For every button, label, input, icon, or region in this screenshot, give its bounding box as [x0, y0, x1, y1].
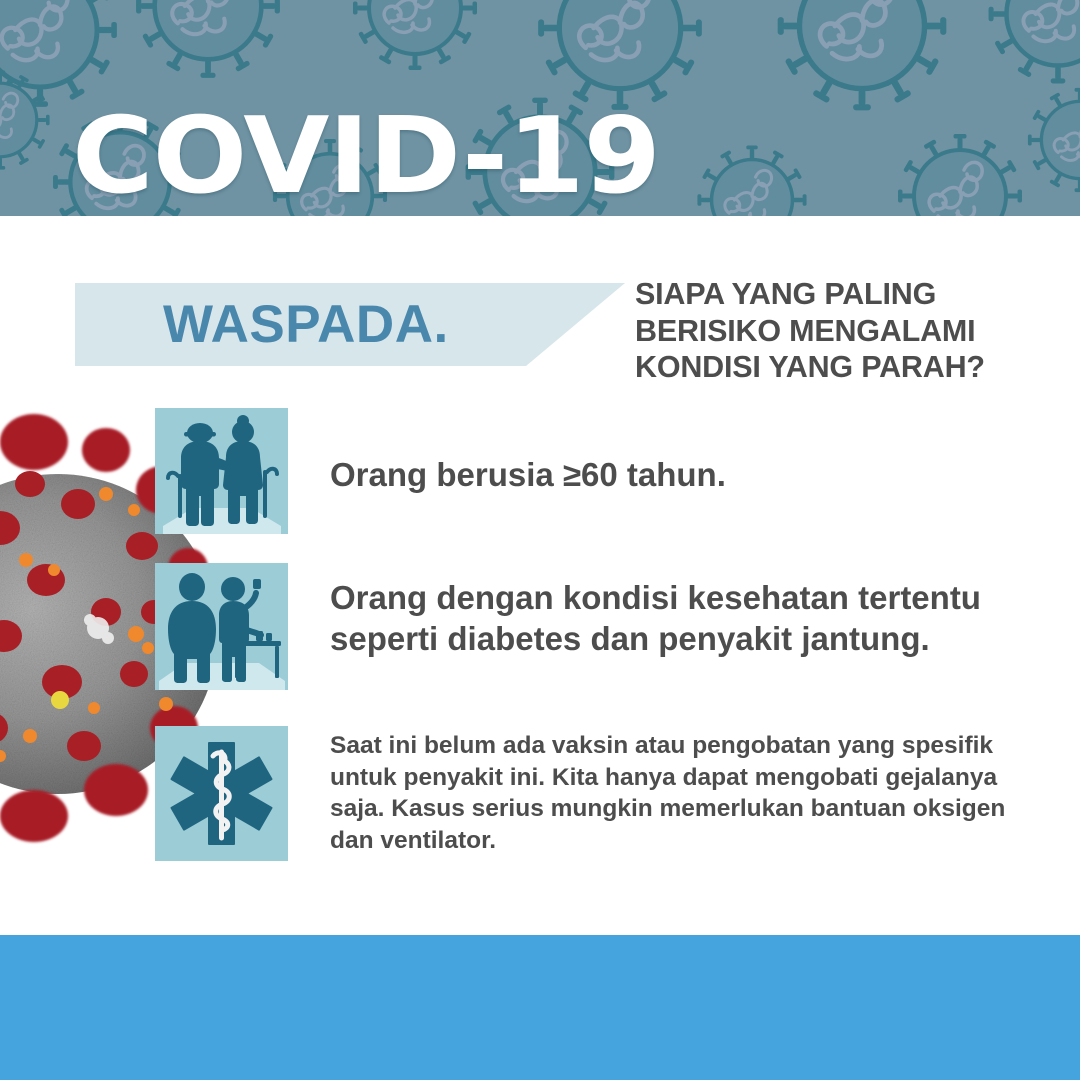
question-line-3: KONDISI YANG PARAH? [635, 349, 1065, 386]
list-item-icon-tile-3 [155, 726, 288, 861]
waspada-label: WASPADA. [163, 296, 449, 354]
risk-item-text-3: Saat ini belum ada vaksin atau pengobata… [330, 730, 1010, 856]
poster-canvas: COVID-19 WASPADA. SIAPA YANG PALING BERI… [0, 0, 1080, 1080]
list-item-icon-tile-2 [155, 563, 288, 690]
risk-item-text-1: Orang berusia ≥60 tahun. [330, 455, 726, 495]
header-band: COVID-19 [0, 0, 1080, 216]
question-headline: SIAPA YANG PALING BERISIKO MENGALAMI KON… [635, 276, 1065, 386]
risk-item-text-2: Orang dengan kondisi kesehatan tertentu … [330, 578, 1030, 659]
question-line-1: SIAPA YANG PALING [635, 276, 1065, 313]
elderly-couple-icon [155, 408, 288, 534]
star-of-life-medical-icon [155, 726, 288, 861]
question-line-2: BERISIKO MENGALAMI [635, 313, 1065, 350]
footer-band [0, 935, 1080, 1080]
page-title: COVID-19 [72, 104, 660, 209]
person-taking-medication-icon [155, 563, 288, 690]
list-item-icon-tile-1 [155, 408, 288, 534]
